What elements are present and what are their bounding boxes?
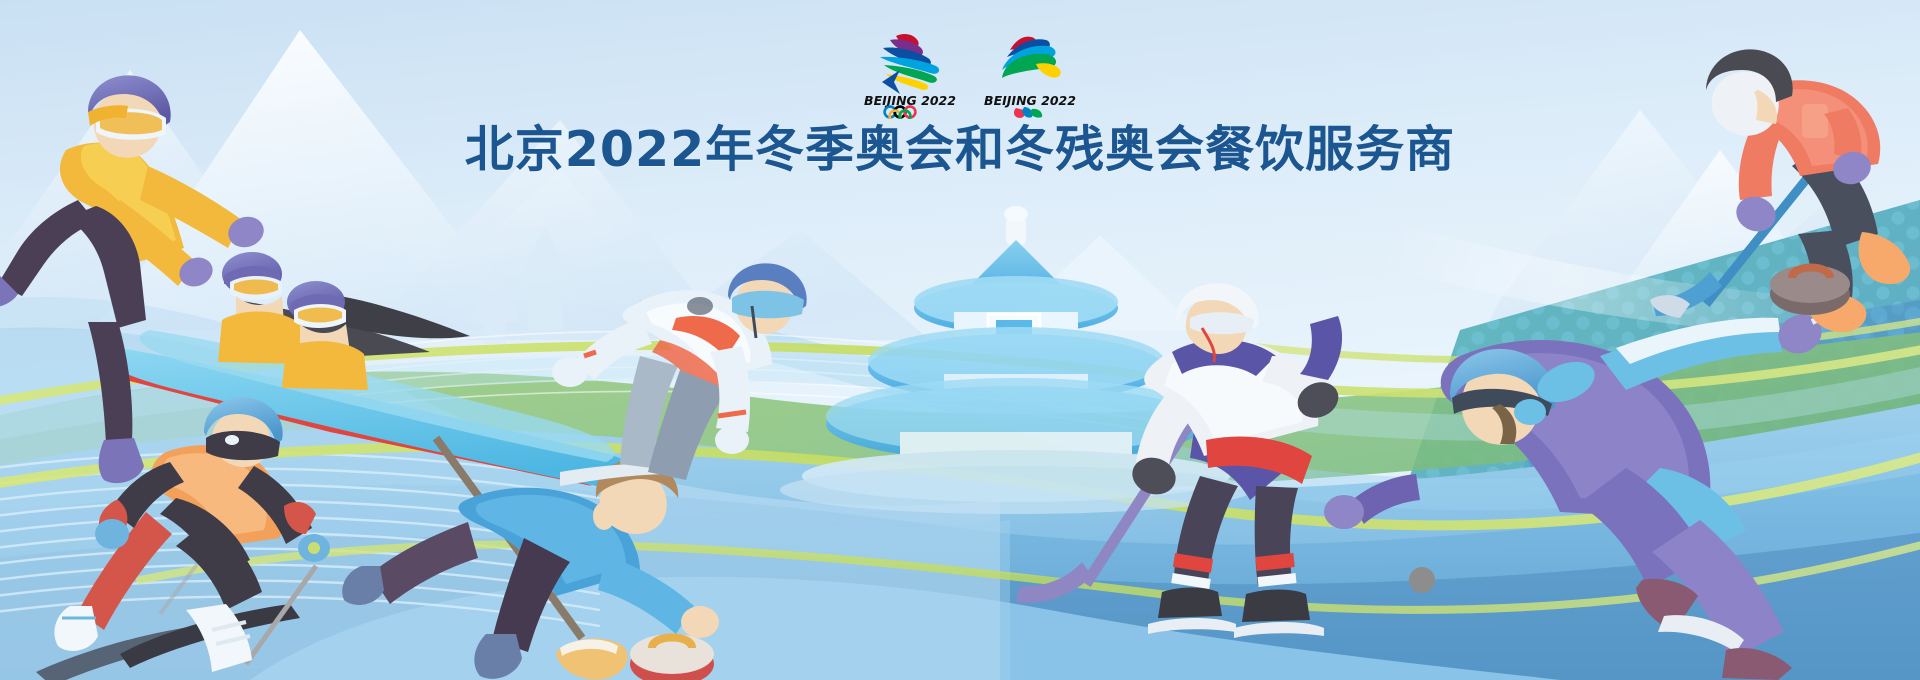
halo-streaks bbox=[1370, 220, 1860, 340]
olympic-emblem: BEIJING 2022 bbox=[860, 24, 960, 119]
bobsleigh-crew-athletes bbox=[101, 252, 644, 492]
halftone-dot-field bbox=[1340, 200, 1920, 680]
curling-stone bbox=[630, 634, 714, 680]
speed-skater-white bbox=[552, 263, 807, 486]
olympic-emblem-symbol bbox=[880, 34, 939, 94]
olympic-rings bbox=[885, 107, 916, 119]
pine-tree-silhouettes bbox=[470, 225, 1082, 452]
bobsleigh-track-slope bbox=[0, 297, 1920, 680]
page-title: 北京2022年冬季奥会和冬残奥会餐饮服务商 bbox=[0, 122, 1920, 178]
speed-lines-lower bbox=[0, 453, 600, 626]
paralympic-emblem-symbol bbox=[1002, 37, 1061, 78]
curling-sweeper-athlete bbox=[1650, 49, 1910, 332]
flowing-ribbons-soft bbox=[0, 368, 1920, 430]
speed-skater-purple bbox=[1324, 306, 1846, 680]
speed-lines bbox=[250, 331, 1170, 434]
curling-stone-right bbox=[1770, 265, 1850, 315]
svg-text:BEIJING 2022: BEIJING 2022 bbox=[984, 93, 1076, 108]
flowing-ribbons bbox=[0, 318, 1920, 610]
cross-country-skier bbox=[36, 397, 330, 680]
terrain-bands bbox=[0, 330, 1920, 680]
agitos bbox=[1014, 107, 1042, 118]
beijing-2022-catering-banner: BEIJING 2022 BEI bbox=[0, 0, 1920, 680]
emblem-row: BEIJING 2022 BEI bbox=[860, 24, 1080, 119]
paralympic-emblem: BEIJING 2022 bbox=[980, 24, 1080, 119]
ice-hockey-athlete bbox=[1016, 283, 1435, 638]
curling-slider-athlete bbox=[342, 438, 719, 680]
